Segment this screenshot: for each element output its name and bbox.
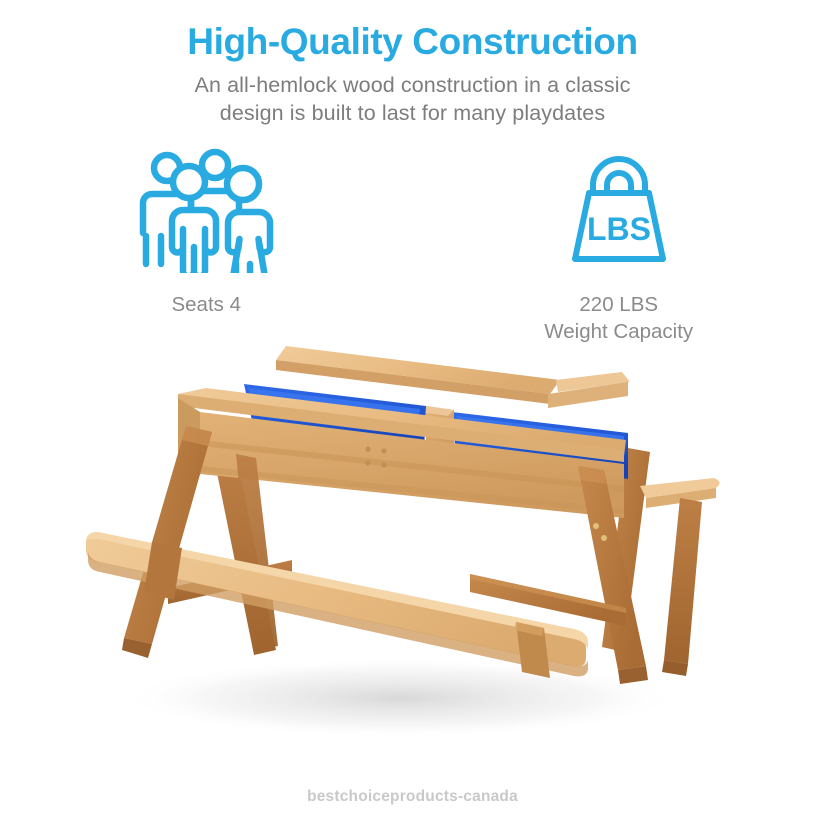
table-top-right-rail	[548, 372, 630, 408]
page-title: High-Quality Construction	[0, 22, 825, 63]
subtitle-line-2: design is built to last for many playdat…	[220, 101, 605, 125]
header: High-Quality Construction An all-hemlock…	[0, 22, 825, 127]
weight-icon-text: LBS	[587, 211, 651, 247]
watermark-overlay-text: bestchoiceproducts-canada	[307, 788, 518, 805]
family-four-people-icon	[131, 148, 281, 273]
page-subtitle: An all-hemlock wood construction in a cl…	[113, 71, 713, 128]
feature-seats: Seats 4	[0, 148, 413, 345]
product-infographic: High-Quality Construction An all-hemlock…	[0, 0, 825, 825]
subtitle-line-1: An all-hemlock wood construction in a cl…	[195, 73, 631, 97]
weight-lbs-icon: LBS	[554, 148, 684, 273]
feature-weight: LBS 220 LBS Weight Capacity	[413, 148, 825, 345]
feature-seats-label-line-1: Seats 4	[171, 293, 241, 316]
feature-seats-label: Seats 4	[171, 291, 241, 318]
product-image	[0, 330, 825, 760]
feature-weight-label-line-1: 220 LBS	[579, 293, 658, 316]
feature-row: Seats 4 LBS 220 LBS	[0, 148, 825, 345]
leg-back-right	[662, 498, 702, 676]
